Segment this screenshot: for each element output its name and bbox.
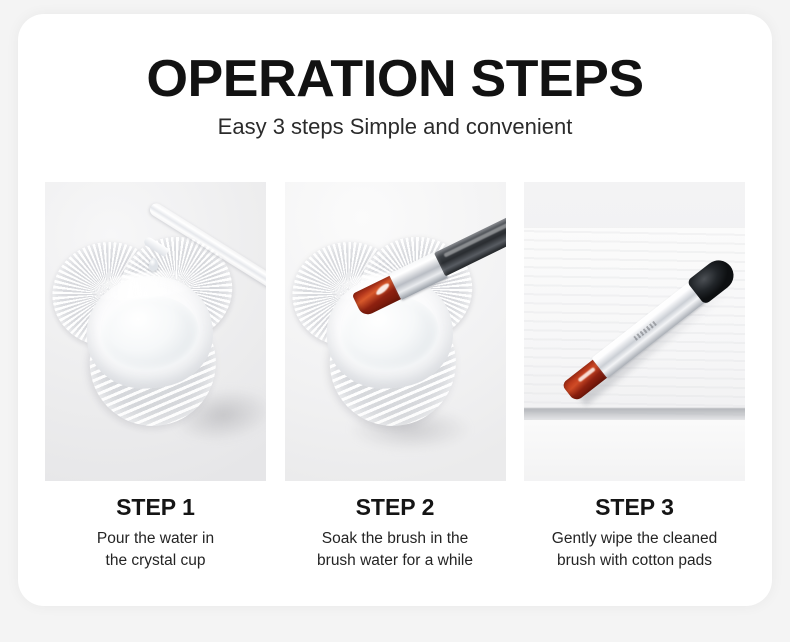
steps-row: STEP 1 Pour the water in the crystal cup xyxy=(45,182,745,572)
step-title-1: STEP 1 xyxy=(45,494,266,520)
step-photo-3 xyxy=(524,182,745,481)
step-photo-2 xyxy=(285,182,506,481)
step-caption-2: Soak the brush in the brush water for a … xyxy=(285,528,506,572)
step-card-3: STEP 3 Gently wipe the cleaned brush wit… xyxy=(524,182,745,572)
step-title-2: STEP 2 xyxy=(285,494,506,520)
step-card-1: STEP 1 Pour the water in the crystal cup xyxy=(45,182,266,572)
promo-card: OPERATION STEPS Easy 3 steps Simple and … xyxy=(18,14,772,606)
cotton-pad-edge xyxy=(524,408,745,420)
page-title: OPERATION STEPS xyxy=(18,52,772,106)
step-card-2: STEP 2 Soak the brush in the brush water… xyxy=(285,182,506,572)
step-photo-1 xyxy=(45,182,266,481)
page-subtitle: Easy 3 steps Simple and convenient xyxy=(18,114,772,140)
step-caption-1: Pour the water in the crystal cup xyxy=(45,528,266,572)
water-droplet xyxy=(149,258,158,271)
cotton-pad-lower xyxy=(524,420,745,481)
step-title-3: STEP 3 xyxy=(524,494,745,520)
step-caption-3: Gently wipe the cleaned brush with cotto… xyxy=(524,528,745,572)
